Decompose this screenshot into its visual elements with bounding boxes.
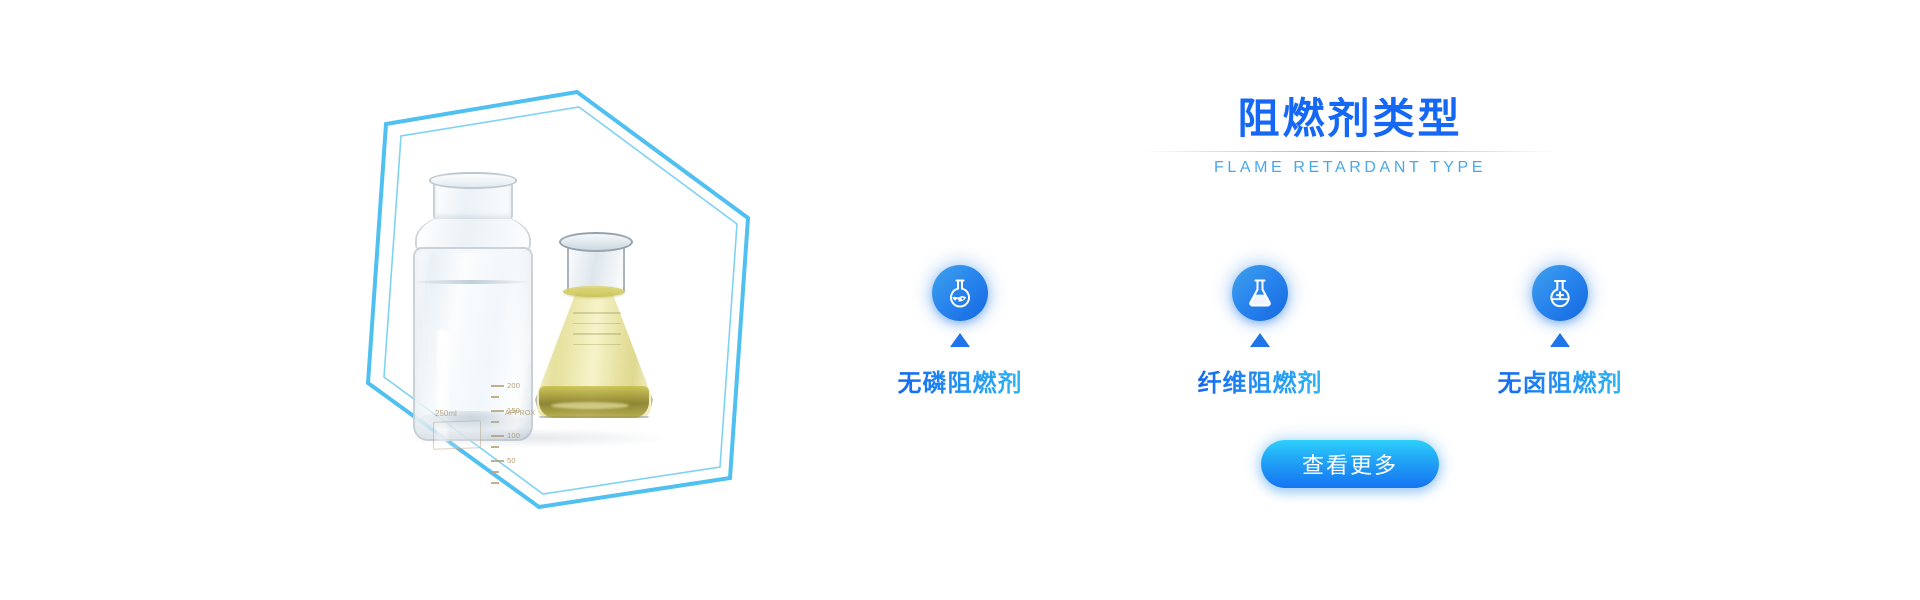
reagent-bottle: 250ml 200 APPROX 150 100 (405, 175, 537, 437)
category-label: 无磷阻燃剂 (898, 363, 1023, 398)
title-divider (1140, 151, 1560, 152)
flask-graduation-etching (573, 312, 621, 364)
pointer-triangle-icon (1550, 333, 1570, 347)
flask-liquid-surface (563, 286, 625, 297)
pointer-triangle-icon (950, 333, 970, 347)
category-item-fiber[interactable]: 纤维阻燃剂 (1160, 265, 1360, 398)
flask-plus-icon[interactable] (1532, 265, 1588, 321)
round-flask-bubbles-icon[interactable] (932, 265, 988, 321)
flask-base-highlight (551, 402, 629, 409)
page-subtitle: FLAME RETARDANT TYPE (1140, 159, 1560, 177)
erlenmeyer-flask-icon[interactable] (1232, 265, 1288, 321)
category-item-no-phosphorus[interactable]: 无磷阻燃剂 (860, 265, 1060, 398)
heading-area: 阻燃剂类型 FLAME RETARDANT TYPE (1080, 96, 1620, 177)
pointer-triangle-icon (1250, 333, 1270, 347)
view-more-button[interactable]: 查看更多 (1261, 440, 1439, 488)
cta-area: 查看更多 (1080, 440, 1620, 488)
bottle-lip (429, 172, 517, 189)
graduation-label-50: 50 (507, 456, 516, 465)
product-hero: 250ml 200 APPROX 150 100 (330, 50, 800, 540)
yellow-liquid-flask (533, 226, 655, 438)
product-shadow (394, 428, 674, 448)
heading-block: 阻燃剂类型 FLAME RETARDANT TYPE (1140, 96, 1560, 177)
product-photo: 250ml 200 APPROX 150 100 (360, 130, 720, 460)
category-label: 无卤阻燃剂 (1498, 363, 1623, 398)
bottle-liquid-line (415, 280, 527, 284)
flame-retardant-banner: 250ml 200 APPROX 150 100 (0, 0, 1920, 600)
category-item-halogen-free[interactable]: 无卤阻燃剂 (1460, 265, 1660, 398)
category-icon-row: 无磷阻燃剂 纤维阻燃剂 无卤阻燃剂 (860, 265, 1660, 398)
flask-lip (559, 232, 633, 252)
graduation-label-200: 200 (507, 381, 520, 390)
category-label: 纤维阻燃剂 (1198, 363, 1323, 398)
bottle-highlight (437, 329, 448, 479)
page-title: 阻燃剂类型 (1140, 96, 1560, 142)
